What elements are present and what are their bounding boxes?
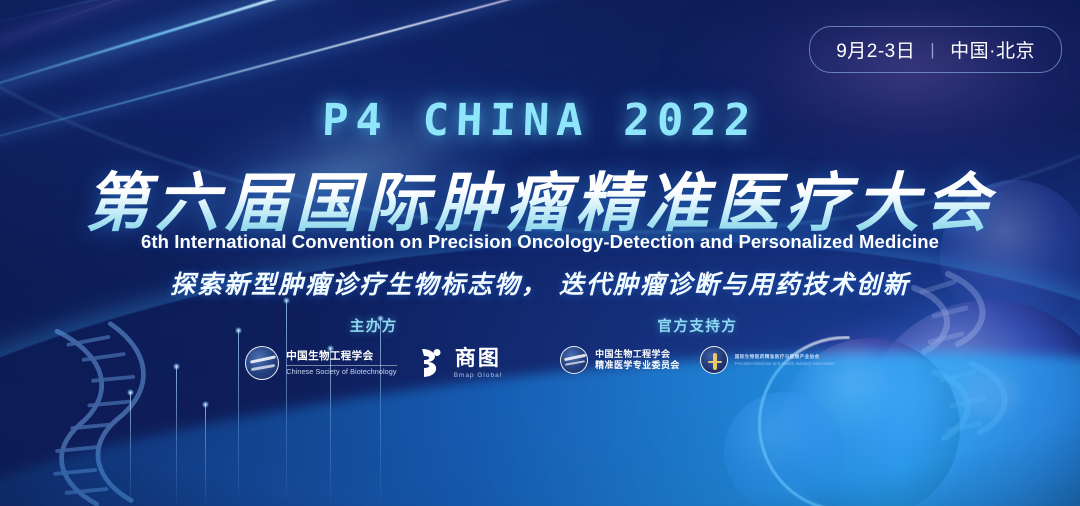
p4-wordmark: P4 CHINA 2022 — [321, 95, 758, 146]
event-location: 中国·北京 — [950, 36, 1035, 63]
logo-name-cn: 中国生物工程学会 — [595, 349, 680, 360]
sponsor-label: 主办方 — [350, 315, 398, 336]
bmap-name-en: Bmap Global — [454, 372, 503, 379]
association-seal-icon — [700, 346, 728, 374]
date-location-badge: 9月2-3日 | 中国·北京 — [809, 26, 1062, 73]
bmap-mark-icon — [417, 346, 447, 380]
sponsor-section: 主办方 中国生物工程学会 Chinese Society of Biotechn… — [0, 315, 1080, 380]
sponsor-logo-row: 中国生物工程学会 精准医学专业委员会 国际生物医药精准医疗与健康产业协会 Pre… — [560, 346, 835, 374]
logo-name-en: Chinese Society of Biotechnology — [286, 365, 396, 377]
sponsor-label: 官方支持方 — [657, 315, 737, 336]
conference-banner: 9月2-3日 | 中国·北京 P4 CHINA 2022 第六届国际肿瘤精准医疗… — [0, 0, 1080, 506]
logo-chinese-society-biotechnology: 中国生物工程学会 Chinese Society of Biotechnolog… — [245, 346, 396, 380]
logo-name-en: Precision Medicine and Health Industry A… — [735, 361, 835, 366]
logo-text: 中国生物工程学会 Chinese Society of Biotechnolog… — [286, 350, 396, 376]
sponsor-group-official-support: 官方支持方 中国生物工程学会 精准医学专业委员会 国际生物医药精准医疗与健康产业… — [560, 315, 835, 374]
badge-separator: | — [930, 40, 935, 60]
logo-name-cn: 国际生物医药精准医疗与健康产业协会 — [735, 354, 835, 360]
logo-text: 国际生物医药精准医疗与健康产业协会 Precision Medicine and… — [735, 354, 835, 366]
sponsor-group-organizer: 主办方 中国生物工程学会 Chinese Society of Biotechn… — [245, 315, 502, 380]
bmap-text: 商图 Bmap Global — [454, 348, 503, 379]
society-seal-icon — [560, 346, 588, 374]
logo-precision-medicine-committee: 中国生物工程学会 精准医学专业委员会 — [560, 346, 680, 374]
tagline: 探索新型肿瘤诊疗生物标志物， 迭代肿瘤诊断与用药技术创新 — [0, 265, 1080, 301]
title-english: 6th International Convention on Precisio… — [0, 231, 1080, 253]
logo-industry-association: 国际生物医药精准医疗与健康产业协会 Precision Medicine and… — [700, 346, 835, 374]
bmap-name-cn: 商图 — [455, 348, 501, 369]
event-date: 9月2-3日 — [836, 36, 915, 63]
banner-content: 9月2-3日 | 中国·北京 P4 CHINA 2022 第六届国际肿瘤精准医疗… — [0, 0, 1080, 506]
society-seal-icon — [245, 346, 279, 380]
logo-name-cn-2: 精准医学专业委员会 — [595, 360, 680, 371]
sponsor-logo-row: 中国生物工程学会 Chinese Society of Biotechnolog… — [245, 346, 502, 380]
logo-text: 中国生物工程学会 精准医学专业委员会 — [595, 349, 680, 372]
logo-bmap-global: 商图 Bmap Global — [417, 346, 503, 380]
logo-name-cn: 中国生物工程学会 — [286, 350, 396, 363]
p4-china-logo: P4 CHINA 2022 — [0, 95, 1080, 146]
